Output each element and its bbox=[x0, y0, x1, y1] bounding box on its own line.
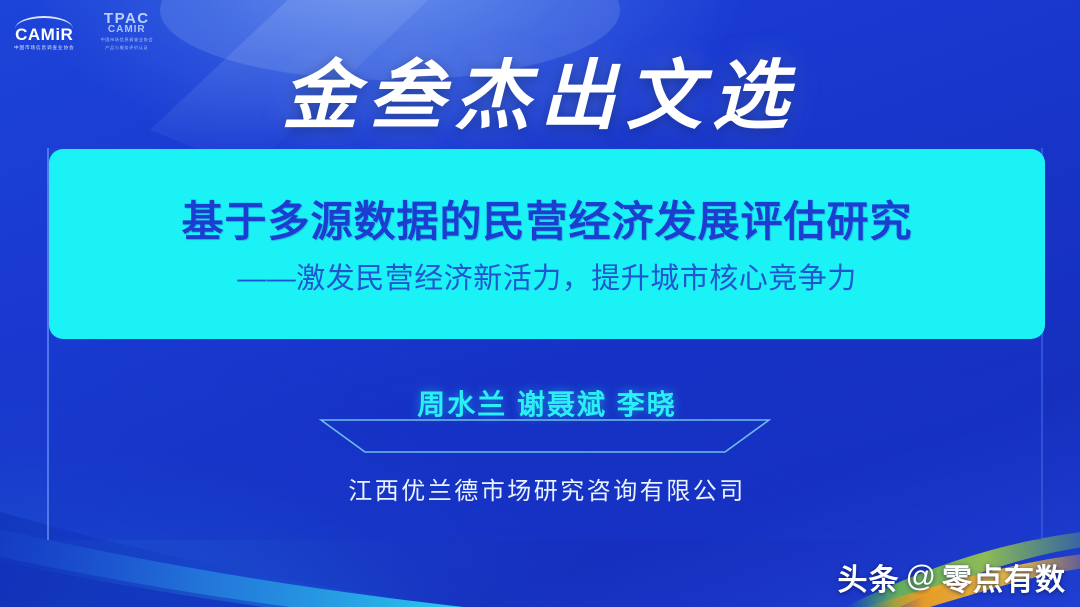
author-names: 周水兰 谢聂斌 李晓 bbox=[49, 383, 1045, 423]
watermark-account: 零点有数 bbox=[942, 555, 1066, 599]
presentation-slide: CAMiR 中国市场信息调查业协会 TPAC CAMIR 中国市场信息调查业协会… bbox=[0, 0, 1080, 607]
page-title: 基于多源数据的民营经济发展评估研究 bbox=[181, 197, 912, 247]
paper-title-box: 基于多源数据的民营经济发展评估研究 ——激发民营经济新活力，提升城市核心竞争力 bbox=[49, 149, 1045, 339]
brush-calligraphy-header: 金叁杰出文选 bbox=[0, 34, 1080, 144]
watermark-platform: 头条 bbox=[838, 555, 900, 599]
watermark: 头条 @ 零点有数 bbox=[838, 555, 1066, 599]
content-panel: 基于多源数据的民营经济发展评估研究 ——激发民营经济新活力，提升城市核心竞争力 … bbox=[47, 148, 1043, 540]
trapezoid-decoration bbox=[319, 418, 771, 454]
authors-block: 周水兰 谢聂斌 李晓 bbox=[49, 383, 1045, 423]
trapezoid-outline-icon bbox=[319, 418, 771, 454]
page-subtitle: ——激发民营经济新活力，提升城市核心竞争力 bbox=[237, 255, 857, 297]
organization-name: 江西优兰德市场研究咨询有限公司 bbox=[49, 471, 1045, 506]
watermark-at-icon: @ bbox=[906, 560, 936, 594]
